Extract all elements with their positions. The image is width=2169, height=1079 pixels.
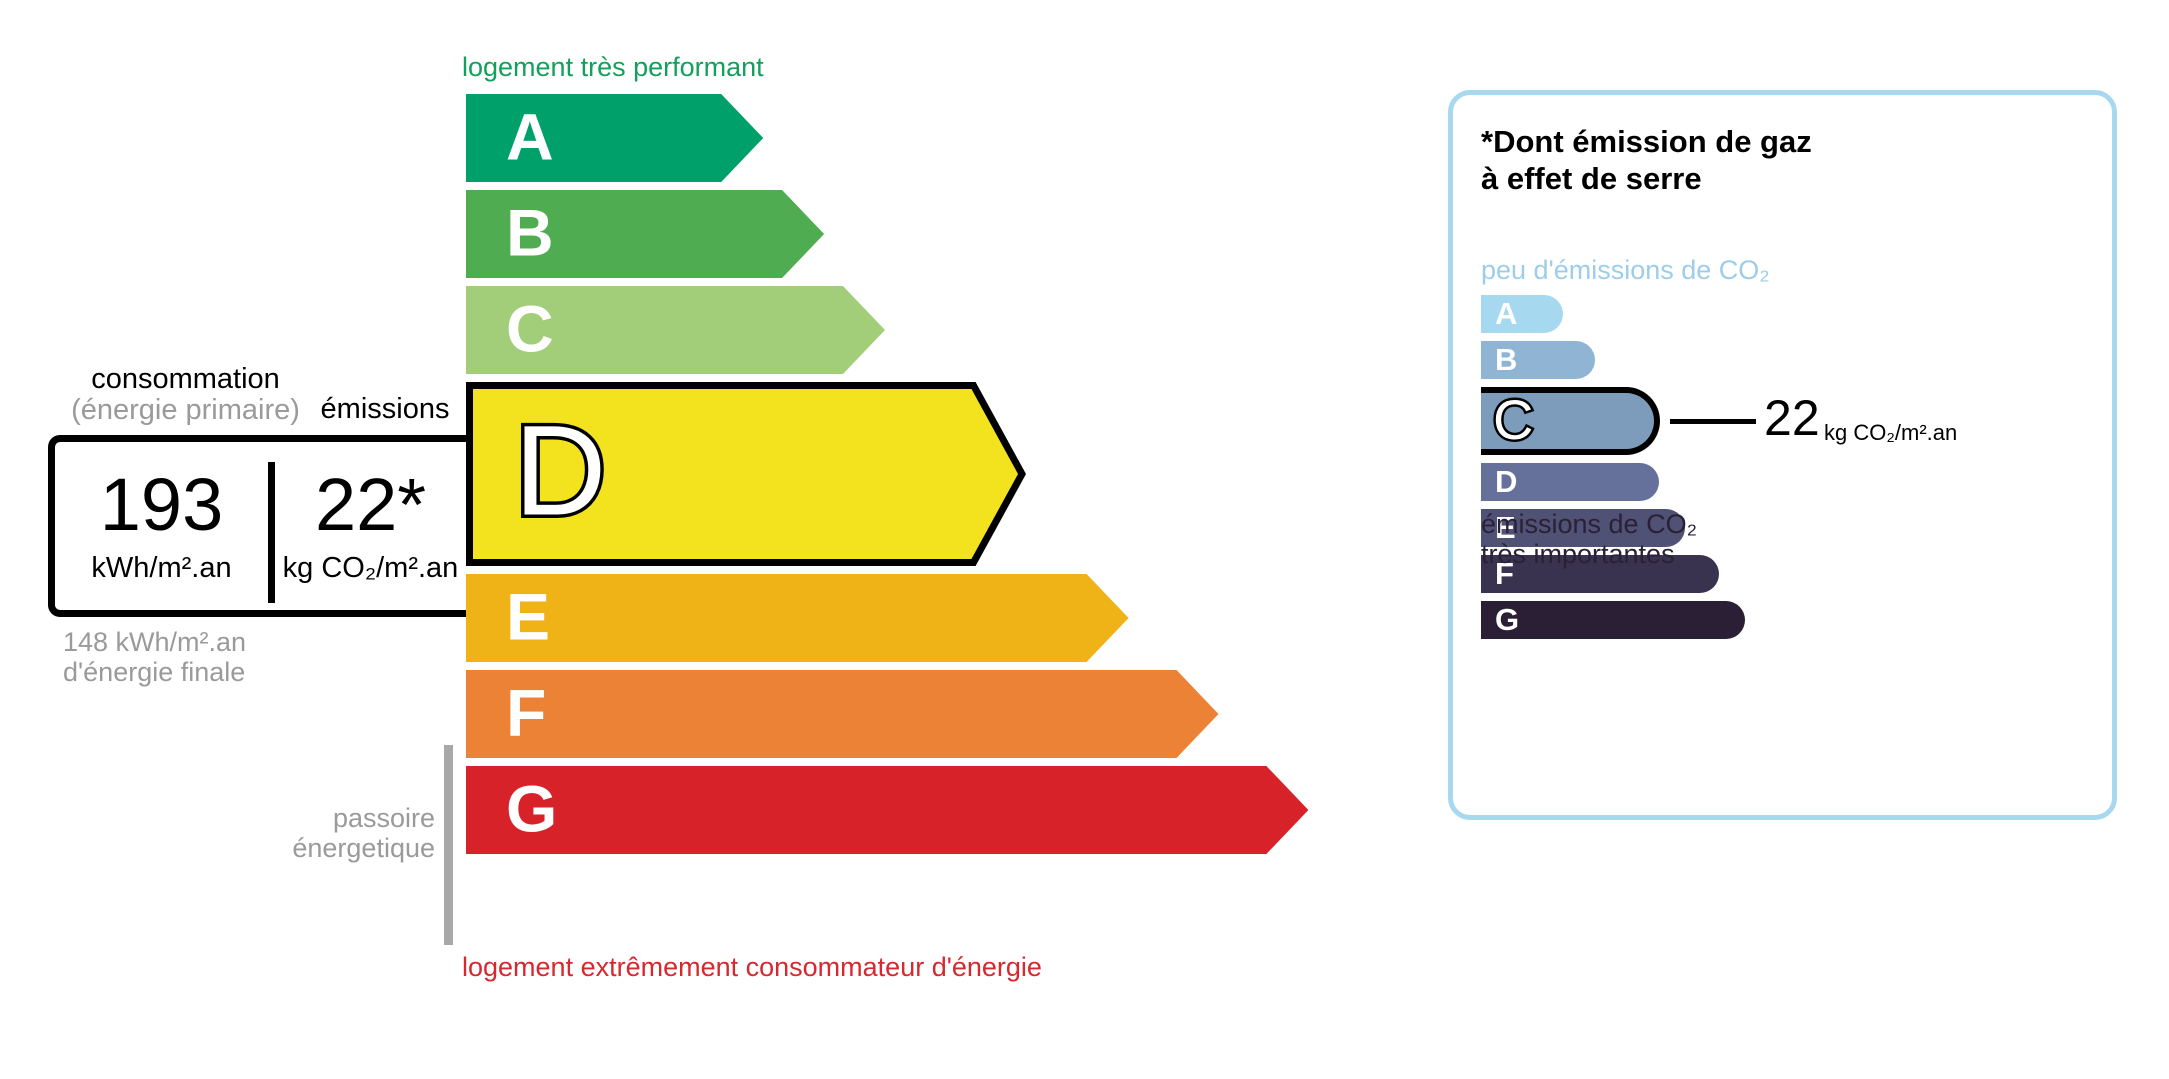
passoire-line1: passoire (190, 803, 435, 833)
co2-class-letter-a: A (1495, 298, 1517, 329)
emissions-unit: kg CO₂/m².an (275, 554, 466, 583)
energy-class-arrow-b: B (466, 190, 824, 278)
co2-class-bar-b: B (1481, 341, 1595, 379)
co2-class-letter-b: B (1495, 344, 1517, 375)
final-energy-line1: 148 kWh/m².an (63, 627, 246, 657)
final-energy-line2: d'énergie finale (63, 657, 246, 687)
dpe-diagram: logement très performant ABCDEFG consomm… (0, 0, 2169, 1079)
energy-class-letter-g: G (506, 776, 557, 842)
consumption-unit: kWh/m².an (55, 554, 268, 583)
co2-top-caption: peu d'émissions de CO₂ (1481, 255, 1770, 286)
co2-title-line2: à effet de serre (1481, 160, 1812, 197)
arrow-shape-g (466, 766, 1308, 854)
co2-class-letter-c: C (1493, 392, 1533, 448)
energy-class-letter-f: F (506, 680, 546, 746)
value-box: 193 kWh/m².an 22* kg CO₂/m².an (48, 435, 466, 617)
energy-class-arrow-f: F (466, 670, 1219, 758)
arrow-shape-e (466, 574, 1129, 662)
passoire-bracket (444, 745, 453, 945)
co2-class-letter-d: D (1495, 466, 1517, 497)
value-box-divider (268, 462, 275, 603)
energy-class-arrow-d: D (466, 382, 1026, 566)
consumption-label-main: consommation (91, 363, 280, 395)
co2-class-letter-g: G (1495, 604, 1519, 635)
co2-panel-title: *Dont émission de gaz à effet de serre (1481, 123, 1812, 197)
energy-class-letter-e: E (506, 584, 550, 650)
co2-class-bar-a: A (1481, 295, 1563, 333)
consumption-label-sub: (énergie primaire) (63, 395, 308, 426)
passoire-line2: énergetique (190, 833, 435, 863)
consumption-value-cell: 193 kWh/m².an (55, 442, 268, 610)
energy-bottom-caption: logement extrêmement consommateur d'éner… (462, 952, 1042, 983)
co2-bottom-line1: émissions de CO₂ (1481, 509, 1697, 539)
emissions-value: 22* (275, 468, 466, 542)
arrow-shape-f (466, 670, 1219, 758)
energy-class-arrow-c: C (466, 286, 885, 374)
co2-class-bar-d: D (1481, 463, 1659, 501)
energy-class-letter-d: D (514, 407, 606, 535)
emissions-value-cell: 22* kg CO₂/m².an (275, 442, 466, 610)
co2-panel: *Dont émission de gaz à effet de serre p… (1448, 90, 2117, 820)
emissions-label: émissions (300, 394, 470, 425)
energy-class-letter-a: A (506, 104, 554, 170)
consumption-value: 193 (55, 468, 268, 542)
consumption-label: consommation (énergie primaire) (63, 364, 308, 426)
energy-top-caption: logement très performant (462, 52, 764, 83)
co2-value-unit: kg CO₂/m².an (1824, 422, 1957, 444)
co2-value: 22 (1764, 393, 1820, 443)
final-energy-note: 148 kWh/m².an d'énergie finale (63, 627, 246, 687)
energy-class-letter-c: C (506, 296, 554, 362)
co2-title-line1: *Dont émission de gaz (1481, 123, 1812, 160)
co2-class-bar-c: C (1481, 387, 1660, 455)
passoire-label: passoire énergetique (190, 803, 435, 863)
co2-class-bar-g: G (1481, 601, 1745, 639)
co2-bottom-line2: très importantes (1481, 539, 1697, 569)
co2-bottom-caption: émissions de CO₂ très importantes (1481, 509, 1697, 569)
energy-class-letter-b: B (506, 200, 554, 266)
energy-class-arrow-a: A (466, 94, 763, 182)
energy-class-arrow-e: E (466, 574, 1129, 662)
energy-class-arrow-g: G (466, 766, 1308, 854)
co2-leader-line (1670, 419, 1756, 424)
energy-performance-scale: logement très performant ABCDEFG consomm… (0, 0, 1390, 1079)
